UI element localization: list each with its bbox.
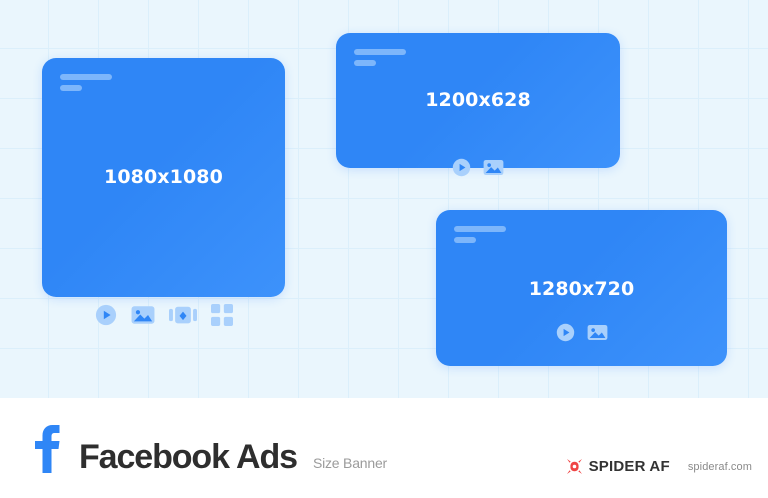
image-icon[interactable] <box>131 304 155 326</box>
carousel-icon[interactable] <box>169 304 197 326</box>
page-title: Facebook Ads <box>79 440 297 474</box>
footer-bar: Facebook Ads Size Banner SPIDER AF spide… <box>0 398 768 498</box>
ad-size-card-1200x628[interactable]: 1200x628 <box>336 33 620 168</box>
placeholder-bar-long <box>354 49 406 55</box>
ad-size-card-1280x720[interactable]: 1280x720 <box>436 210 727 366</box>
facebook-f-icon <box>33 424 61 474</box>
vendor-block[interactable]: SPIDER AF spideraf.com <box>566 458 752 475</box>
format-icon-row <box>436 323 727 342</box>
placeholder-bar-short <box>454 237 476 243</box>
spider-af-icon <box>566 458 583 475</box>
vendor-name: SPIDER AF <box>589 458 670 475</box>
page-subtitle: Size Banner <box>313 455 387 471</box>
ad-size-card-1080x1080[interactable]: 1080x1080 <box>42 58 285 297</box>
image-icon[interactable] <box>587 323 608 342</box>
placeholder-bar-short <box>60 85 82 91</box>
banner-page: 1080x1080 <box>0 0 768 498</box>
image-icon[interactable] <box>483 158 504 177</box>
placeholder-bar-long <box>60 74 112 80</box>
vendor-url[interactable]: spideraf.com <box>688 461 752 473</box>
card-size-label: 1280x720 <box>436 278 727 300</box>
card-size-label: 1200x628 <box>336 89 620 111</box>
format-icon-row <box>42 304 285 326</box>
play-icon[interactable] <box>452 158 471 177</box>
card-size-label: 1080x1080 <box>42 166 285 188</box>
placeholder-header-bars <box>60 74 112 91</box>
placeholder-bar-short <box>354 60 376 66</box>
play-icon[interactable] <box>556 323 575 342</box>
placeholder-header-bars <box>454 226 506 243</box>
play-icon[interactable] <box>95 304 117 326</box>
format-icon-row <box>336 158 620 177</box>
placeholder-bar-long <box>454 226 506 232</box>
grid-canvas: 1080x1080 <box>0 0 768 398</box>
grid-icon[interactable] <box>211 304 233 326</box>
placeholder-header-bars <box>354 49 406 66</box>
brand-block: Facebook Ads Size Banner <box>33 418 387 474</box>
